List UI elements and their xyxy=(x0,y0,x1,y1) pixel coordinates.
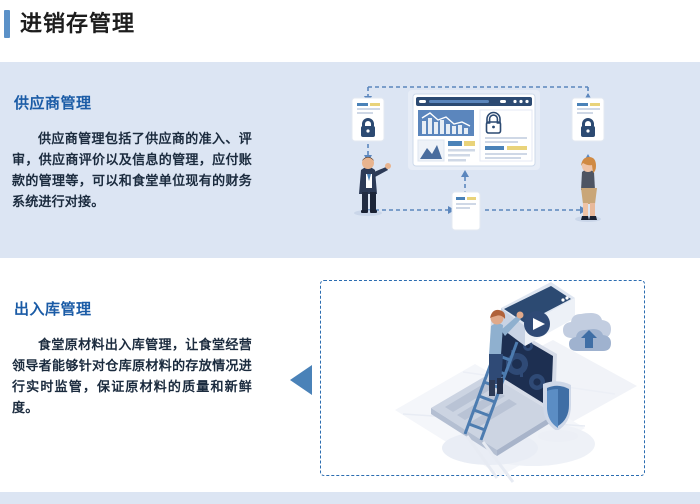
page-root: 进销存管理 供应商管理 供应商管理包括了供应商的准入、评审，供应商评价以及信息的… xyxy=(0,0,700,504)
shield-shadow xyxy=(538,430,578,442)
bottom-strip xyxy=(0,492,700,504)
businessman-figure xyxy=(354,157,391,216)
section-supplier-body: 供应商管理包括了供应商的准入、评审，供应商评价以及信息的管理，应付账款的管理等，… xyxy=(12,128,252,212)
browser-window xyxy=(408,90,540,170)
page-title: 进销存管理 xyxy=(20,10,135,38)
page-header: 进销存管理 xyxy=(0,0,700,62)
title-wrap: 进销存管理 xyxy=(4,10,135,38)
section-supplier-heading: 供应商管理 xyxy=(14,92,92,113)
illustration-svg-2 xyxy=(285,268,685,492)
document-card-right xyxy=(572,98,604,141)
section-inventory-heading: 出入库管理 xyxy=(14,298,92,319)
section-inventory-body: 食堂原材料出入库管理，让食堂经营领导者能够针对仓库原材料的存放情况进行实时监管，… xyxy=(12,334,252,418)
laptop-maintenance-illustration xyxy=(285,268,685,492)
security-panel xyxy=(480,110,532,161)
data-sharing-illustration xyxy=(310,62,700,258)
businesswoman-figure xyxy=(575,157,601,222)
title-accent-bar xyxy=(4,10,10,38)
play-button-icon xyxy=(524,311,550,337)
illustration-svg-1 xyxy=(310,62,700,258)
document-card-bottom xyxy=(452,192,480,230)
lock-icon xyxy=(581,118,595,137)
bar-chart xyxy=(418,110,474,136)
document-card-left xyxy=(352,98,384,141)
lock-icon xyxy=(361,118,375,137)
